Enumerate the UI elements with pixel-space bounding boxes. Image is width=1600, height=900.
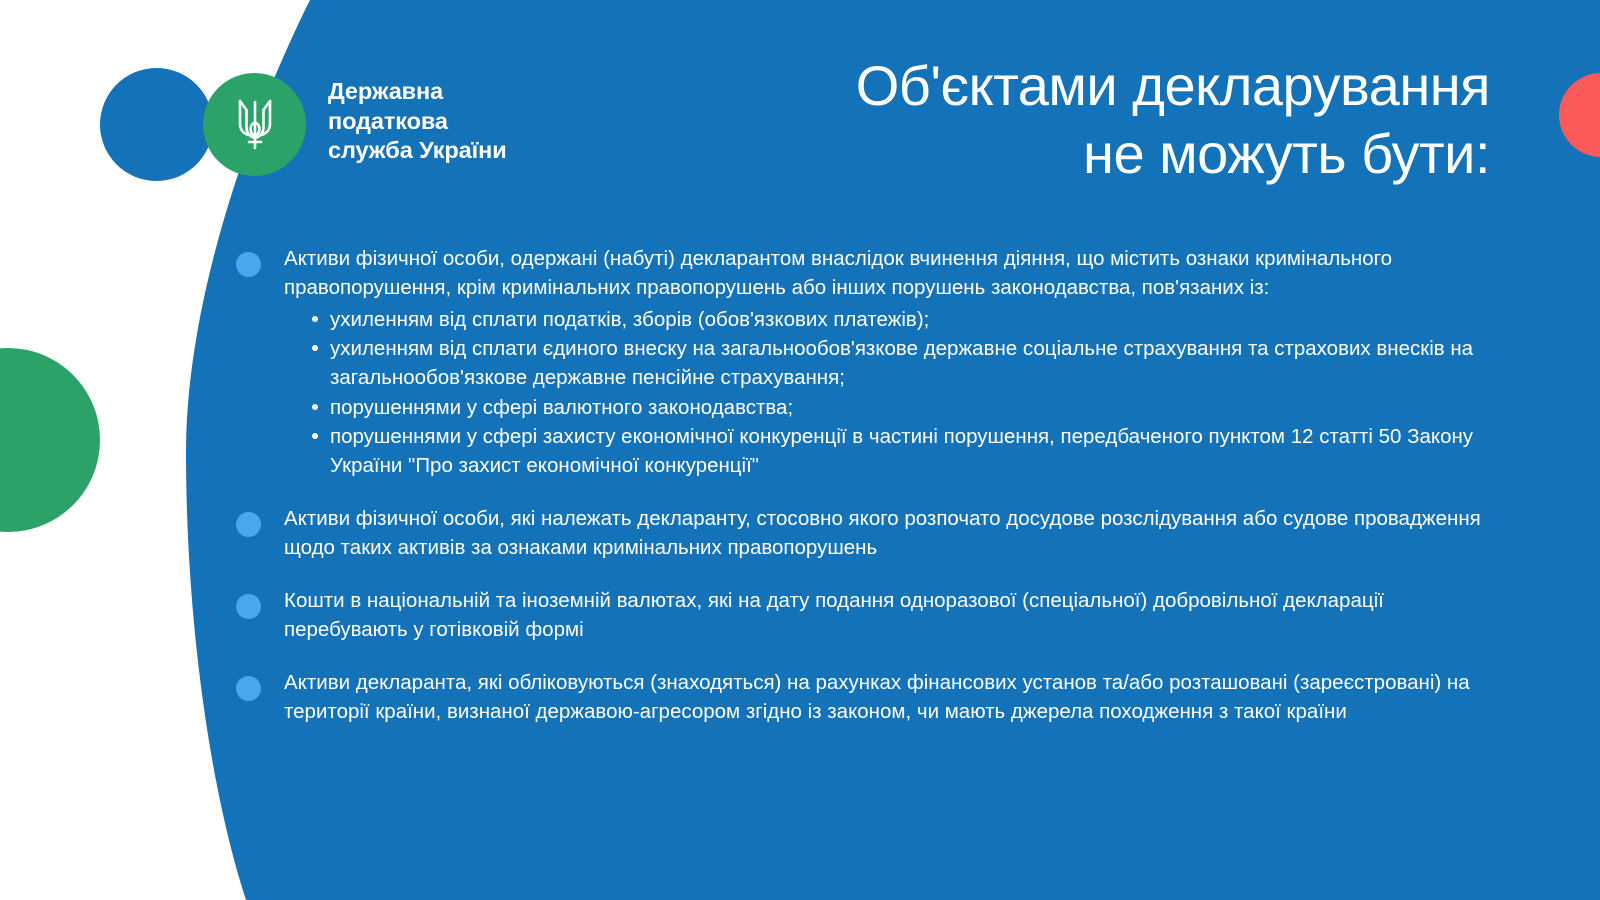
sub-list-item: ухиленням від сплати податків, зборів (о… [310,305,1506,334]
list-item-text: Активи фізичної особи, одержані (набуті)… [284,244,1506,302]
sub-list-item-text: ухиленням від сплати податків, зборів (о… [330,308,929,331]
bullet-dot-icon [236,594,261,619]
sub-list-item-text: порушеннями у сфері валютного законодавс… [330,396,793,419]
sub-bullet-dot-icon [312,345,318,351]
sub-list: ухиленням від сплати податків, зборів (о… [284,305,1506,480]
list-item: Активи декларанта, які обліковуються (зн… [236,668,1506,726]
list-item-text: Активи фізичної особи, які належать декл… [284,504,1506,562]
sub-list-item: порушеннями у сфері валютного законодавс… [310,393,1506,422]
sub-bullet-dot-icon [312,404,318,410]
list-item-text: Активи декларанта, які обліковуються (зн… [284,668,1506,726]
green-circle-logo [203,73,306,176]
sub-list-item-text: ухиленням від сплати єдиного внеску на з… [330,337,1473,389]
logo-text: Державна податкова служба України [328,77,507,166]
bullet-dot-icon [236,512,261,537]
list-item: Активи фізичної особи, одержані (набуті)… [236,244,1506,480]
blue-circle-decoration [100,68,213,181]
bullet-dot-icon [236,252,261,277]
sub-list-item: порушеннями у сфері захисту економічної … [310,422,1506,480]
bullet-dot-icon [236,676,261,701]
green-circle-left [0,348,100,532]
list-item: Кошти в національній та іноземній валюта… [236,586,1506,644]
list-item: Активи фізичної особи, які належать декл… [236,504,1506,562]
content-list: Активи фізичної особи, одержані (набуті)… [236,244,1506,727]
page-title: Об'єктами декларування не можуть бути: [560,52,1490,189]
list-item-text: Кошти в національній та іноземній валюта… [284,586,1506,644]
sub-list-item: ухиленням від сплати єдиного внеску на з… [310,334,1506,392]
sub-list-item-text: порушеннями у сфері захисту економічної … [330,425,1473,477]
logo-lockup: Державна податкова служба України [100,63,570,191]
ukraine-trident-icon [232,94,278,156]
slide-root: Державна податкова служба України Об'єкт… [0,0,1600,900]
sub-bullet-dot-icon [312,433,318,439]
sub-bullet-dot-icon [312,316,318,322]
